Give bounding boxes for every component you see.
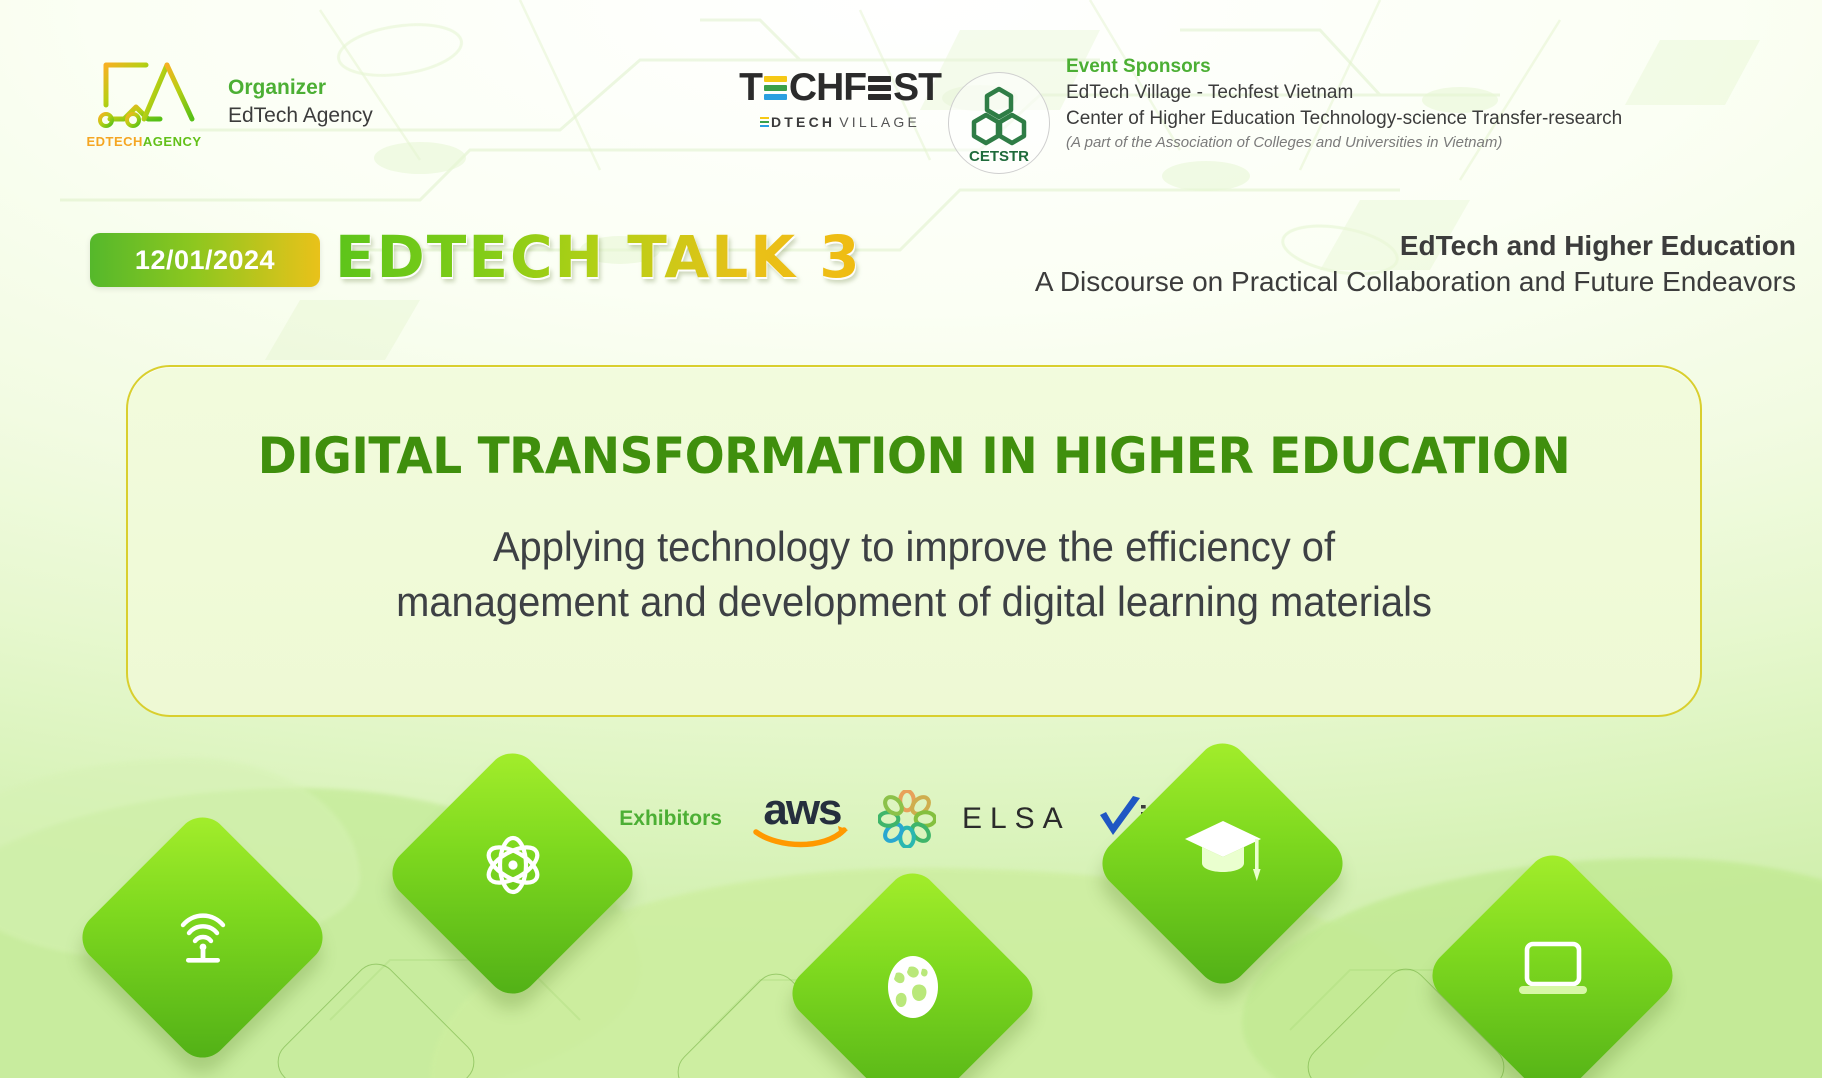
main-topic-subtitle-line-1: Applying technology to improve the effic… — [253, 519, 1575, 574]
event-sponsors-block: Event Sponsors EdTech Village - Techfest… — [1066, 54, 1622, 153]
atom-icon — [420, 781, 605, 966]
ea-monogram-icon — [84, 57, 204, 131]
edtech-label: DTECH — [771, 114, 835, 130]
techfest-wordmark: T CHF ST — [740, 68, 940, 107]
outline-diamond — [269, 955, 484, 1078]
wordmark-part-two: AGENCY — [143, 134, 202, 149]
organizer-role-label: Organizer — [228, 74, 373, 102]
edtech-e-bars-icon — [760, 117, 769, 128]
laptop-icon — [1460, 883, 1645, 1068]
organizer-text: Organizer EdTech Agency — [228, 74, 373, 131]
main-topic-title: DIGITAL TRANSFORMATION IN HIGHER EDUCATI… — [175, 427, 1653, 485]
cetstr-logo: CETSTR — [948, 72, 1050, 174]
sponsor-line-2: Center of Higher Education Technology-sc… — [1066, 106, 1622, 132]
event-theme-line-1: EdTech and Higher Education — [1035, 228, 1796, 264]
diamond-tile — [382, 743, 644, 1005]
diamond-tile — [1092, 733, 1354, 995]
techfest-logo: T CHF ST DTECH VILLAGE — [740, 68, 940, 130]
diamond-tile — [782, 863, 1044, 1078]
techfest-e-bars-icon — [764, 72, 787, 103]
techfest-letters-st: ST — [893, 68, 941, 107]
event-series-title: EDTECH TALK 3 — [335, 220, 862, 294]
banner-header: EDTECHAGENCY Organizer EdTech Agency T C… — [0, 0, 1822, 180]
techfest-letter-t: T — [739, 68, 762, 107]
techfest-e2-bars-icon — [868, 72, 891, 103]
cetstr-label: CETSTR — [969, 148, 1029, 165]
graduation-cap-icon — [1130, 771, 1315, 956]
organizer-name: EdTech Agency — [228, 102, 373, 130]
event-date-badge: 12/01/2024 — [90, 233, 320, 287]
village-label: VILLAGE — [839, 114, 920, 130]
sponsor-line-1: EdTech Village - Techfest Vietnam — [1066, 80, 1622, 106]
event-banner: EDTECHAGENCY Organizer EdTech Agency T C… — [0, 0, 1822, 1078]
diamond-tile — [1422, 845, 1684, 1078]
diamond-tile — [72, 807, 334, 1069]
decorative-diamonds — [0, 748, 1822, 1078]
main-topic-card: DIGITAL TRANSFORMATION IN HIGHER EDUCATI… — [126, 365, 1702, 717]
main-topic-subtitle: Applying technology to improve the effic… — [253, 519, 1575, 630]
edtech-agency-wordmark: EDTECHAGENCY — [84, 134, 204, 149]
event-theme-block: EdTech and Higher Education A Discourse … — [1035, 228, 1796, 301]
techfest-letters-chf: CHF — [789, 68, 866, 107]
wordmark-part-one: EDTECH — [86, 134, 142, 149]
main-topic-subtitle-line-2: management and development of digital le… — [253, 574, 1575, 629]
techfest-subtitle: DTECH VILLAGE — [740, 114, 940, 130]
globe-icon — [820, 901, 1005, 1078]
sponsors-title: Event Sponsors — [1066, 54, 1622, 80]
wifi-broadcast-icon — [110, 845, 295, 1030]
organizer-block: EDTECHAGENCY Organizer EdTech Agency — [84, 57, 373, 147]
cetstr-hexagons-icon: CETSTR — [949, 73, 1049, 173]
edtech-agency-logo: EDTECHAGENCY — [84, 57, 204, 147]
event-theme-line-2: A Discourse on Practical Collaboration a… — [1035, 264, 1796, 300]
sponsor-note: (A part of the Association of Colleges a… — [1066, 133, 1622, 154]
